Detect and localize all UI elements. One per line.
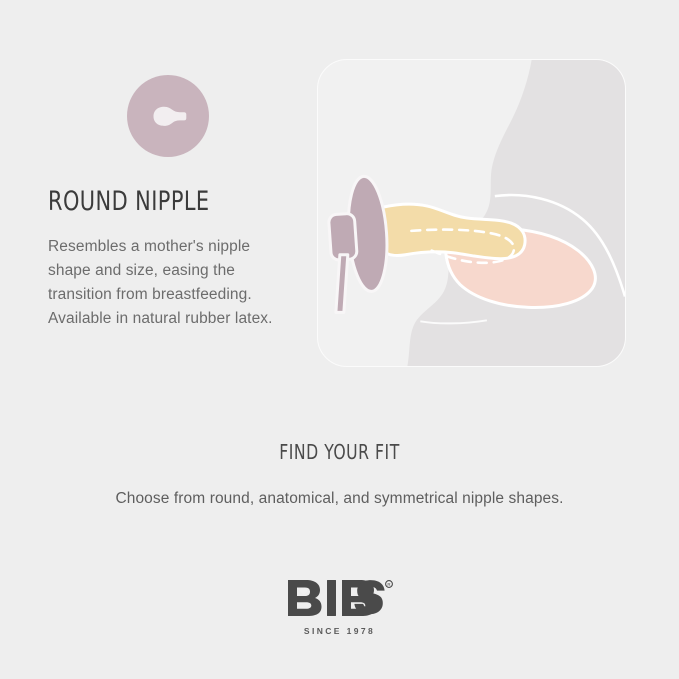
- illustration-card: [317, 59, 626, 367]
- feature-row: ROUND NIPPLE Resembles a mother's nipple…: [0, 0, 679, 400]
- baby-head-cross-section-illustration: [318, 60, 625, 366]
- svg-text:R: R: [387, 582, 390, 587]
- feature-title: ROUND NIPPLE: [48, 187, 263, 217]
- brand-since-text: SINCE 1978: [0, 626, 679, 636]
- bibs-wordmark-icon: R: [286, 578, 394, 618]
- pacifier-handle-stem: [336, 255, 348, 313]
- find-your-fit-section: FIND YOUR FIT Choose from round, anatomi…: [0, 440, 679, 508]
- round-nipple-shape-icon: [127, 75, 209, 157]
- brand-logo: R SINCE 1978: [0, 578, 679, 636]
- product-feature-page: ROUND NIPPLE Resembles a mother's nipple…: [0, 0, 679, 679]
- find-your-fit-subtitle: Choose from round, anatomical, and symme…: [0, 490, 679, 508]
- find-your-fit-title: FIND YOUR FIT: [44, 440, 635, 464]
- feature-description: Resembles a mother's nipple shape and si…: [48, 235, 288, 331]
- feature-text-column: ROUND NIPPLE Resembles a mother's nipple…: [48, 75, 298, 331]
